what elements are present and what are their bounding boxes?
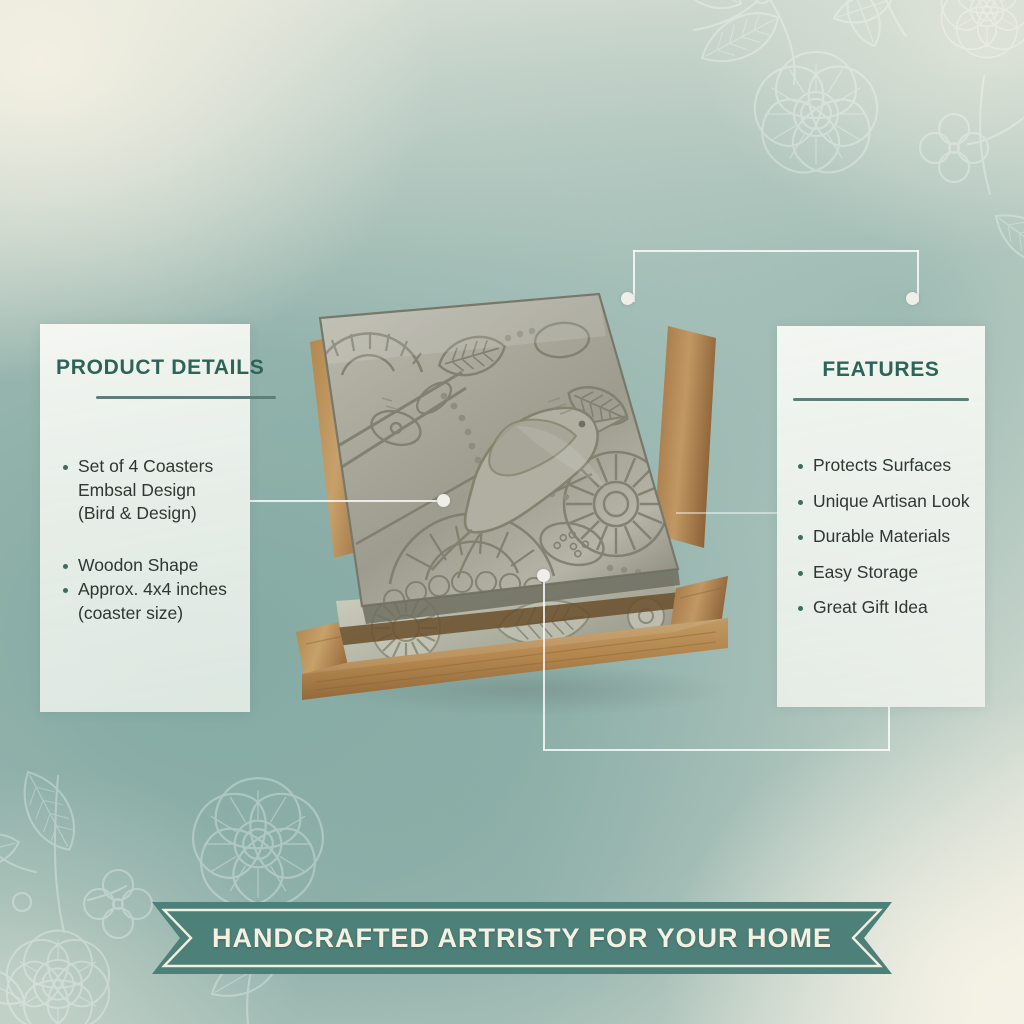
connector-top-vertical-left	[633, 250, 635, 302]
bullet-text: Unique Artisan Look	[813, 491, 970, 511]
connector-bottom-horizontal	[543, 749, 890, 751]
connector-bottom-vertical-right	[888, 706, 890, 750]
features-panel: FEATURES Protects Surfaces Unique Artisa…	[777, 326, 985, 707]
product-details-title: PRODUCT DETAILS	[56, 356, 264, 380]
bullet-text-cont: Embsal Design	[78, 479, 248, 503]
bullet-text: Approx. 4x4 inches	[78, 579, 227, 599]
tagline-banner: HANDCRAFTED ARTRISTY FOR YOUR HOME	[152, 902, 892, 974]
product-details-panel: PRODUCT DETAILS Set of 4 Coasters Embsal…	[40, 324, 250, 712]
list-item: Easy Storage	[791, 561, 987, 585]
product-image	[276, 276, 776, 716]
list-item: Great Gift Idea	[791, 596, 987, 620]
features-underline	[793, 398, 969, 401]
list-item: Unique Artisan Look	[791, 490, 987, 514]
bullet-text: Protects Surfaces	[813, 455, 951, 475]
bullet-text: Easy Storage	[813, 562, 918, 582]
callout-dot-coaster-bird-motif[interactable]	[437, 494, 450, 507]
features-list: Protects Surfaces Unique Artisan Look Du…	[791, 454, 987, 632]
connector-left-to-details	[250, 500, 446, 502]
connector-top-horizontal	[633, 250, 919, 252]
floral-ornament-top-right	[634, 0, 1024, 296]
callout-dot-top-coaster-surface[interactable]	[621, 292, 634, 305]
bullet-text-cont: (coaster size)	[78, 602, 248, 626]
callout-dot-wooden-holder-base[interactable]	[537, 569, 550, 582]
connector-bottom-vertical-left	[543, 578, 545, 750]
list-item: Approx. 4x4 inches (coaster size)	[56, 578, 248, 625]
list-item: Woodon Shape	[56, 554, 248, 578]
connector-right-to-features	[676, 512, 779, 514]
callout-dot-features-anchor[interactable]	[906, 292, 919, 305]
bullet-text: Woodon Shape	[78, 555, 198, 575]
floral-ornament-bottom-left	[0, 732, 396, 1024]
bullet-text-cont: (Bird & Design)	[78, 502, 248, 526]
bullet-text: Set of 4 Coasters	[78, 456, 213, 476]
bullet-text: Great Gift Idea	[813, 597, 928, 617]
product-details-underline	[96, 396, 276, 399]
features-title: FEATURES	[777, 358, 985, 382]
product-details-list: Set of 4 Coasters Embsal Design (Bird & …	[56, 455, 248, 626]
bullet-text: Durable Materials	[813, 526, 950, 546]
infographic-canvas: PRODUCT DETAILS Set of 4 Coasters Embsal…	[0, 0, 1024, 1024]
tagline-text: HANDCRAFTED ARTRISTY FOR YOUR HOME	[152, 902, 892, 974]
list-item: Protects Surfaces	[791, 454, 987, 478]
list-item: Durable Materials	[791, 525, 987, 549]
list-item: Set of 4 Coasters Embsal Design (Bird & …	[56, 455, 248, 526]
